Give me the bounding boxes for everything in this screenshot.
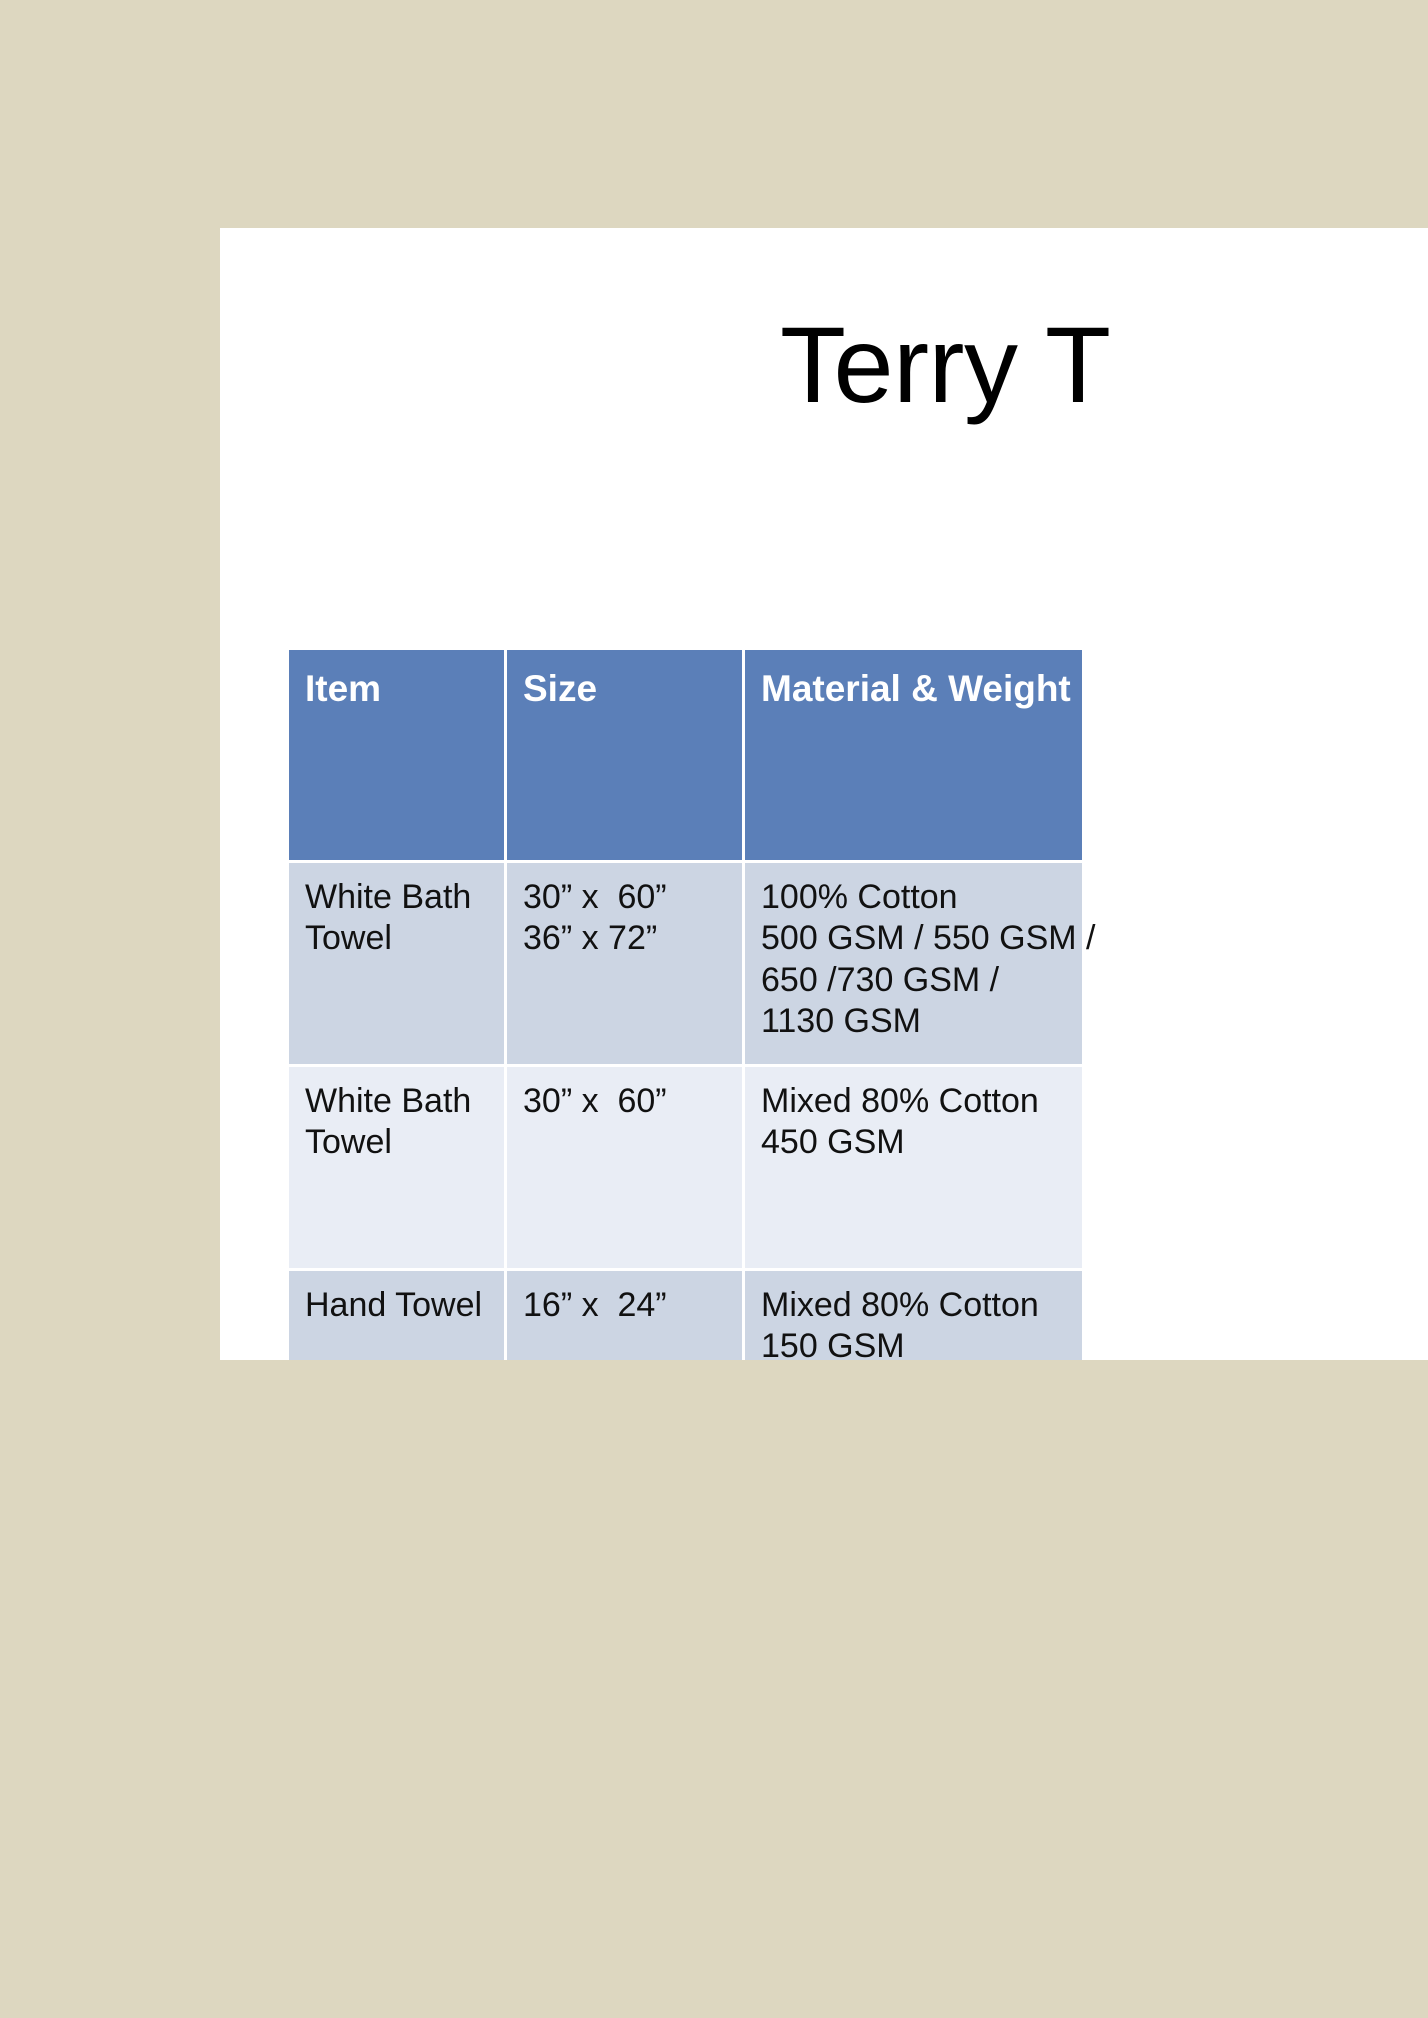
cell-material: Mixed 80% Cotton 150 GSM (745, 1271, 1082, 1360)
table-header-row: Item Size Material & Weight (289, 650, 1082, 863)
table-row: White Bath Towel 30” x 60” 36” x 72” 100… (289, 863, 1082, 1067)
cell-line: 30” x 60” (523, 877, 742, 918)
cell-line: 450 GSM (761, 1122, 1082, 1163)
table-row: White Bath Towel 30” x 60” Mixed 80% Cot… (289, 1067, 1082, 1271)
table-row: Hand Towel 16” x 24” Mixed 80% Cotton 15… (289, 1271, 1082, 1360)
cell-line: 16” x 24” (523, 1285, 742, 1326)
cell-item: White Bath Towel (289, 1067, 507, 1271)
cell-item: White Bath Towel (289, 863, 507, 1067)
cell-line: Hand Towel (305, 1285, 504, 1326)
cell-line: Towel (305, 918, 504, 959)
cell-line: 500 GSM / 550 GSM / (761, 918, 1082, 959)
cell-line: Mixed 80% Cotton (761, 1081, 1082, 1122)
cell-line: 30” x 60” (523, 1081, 742, 1122)
cell-line: Towel (305, 1122, 504, 1163)
table-body: White Bath Towel 30” x 60” 36” x 72” 100… (289, 863, 1082, 1360)
cell-item: Hand Towel (289, 1271, 507, 1360)
cell-line: 100% Cotton (761, 877, 1082, 918)
cell-material: 100% Cotton 500 GSM / 550 GSM / 650 /730… (745, 863, 1082, 1067)
cell-line: White Bath (305, 877, 504, 918)
cell-size: 30” x 60” 36” x 72” (507, 863, 745, 1067)
page-title: Terry T (780, 308, 1428, 421)
slide-canvas: Terry T Item Size Material & Weight Whit… (220, 228, 1428, 1360)
cell-size: 30” x 60” (507, 1067, 745, 1271)
cell-line: 36” x 72” (523, 918, 742, 959)
column-header-item: Item (289, 650, 507, 863)
cell-material: Mixed 80% Cotton 450 GSM (745, 1067, 1082, 1271)
cell-line: 650 /730 GSM / (761, 960, 1082, 1001)
product-specification-table: Item Size Material & Weight White Bath T… (289, 650, 1082, 1360)
column-header-size: Size (507, 650, 745, 863)
cell-line: 1130 GSM (761, 1001, 1082, 1042)
cell-line: White Bath (305, 1081, 504, 1122)
cell-line: 150 GSM (761, 1326, 1082, 1360)
cell-line: Mixed 80% Cotton (761, 1285, 1082, 1326)
column-header-material: Material & Weight (745, 650, 1082, 863)
cell-size: 16” x 24” (507, 1271, 745, 1360)
